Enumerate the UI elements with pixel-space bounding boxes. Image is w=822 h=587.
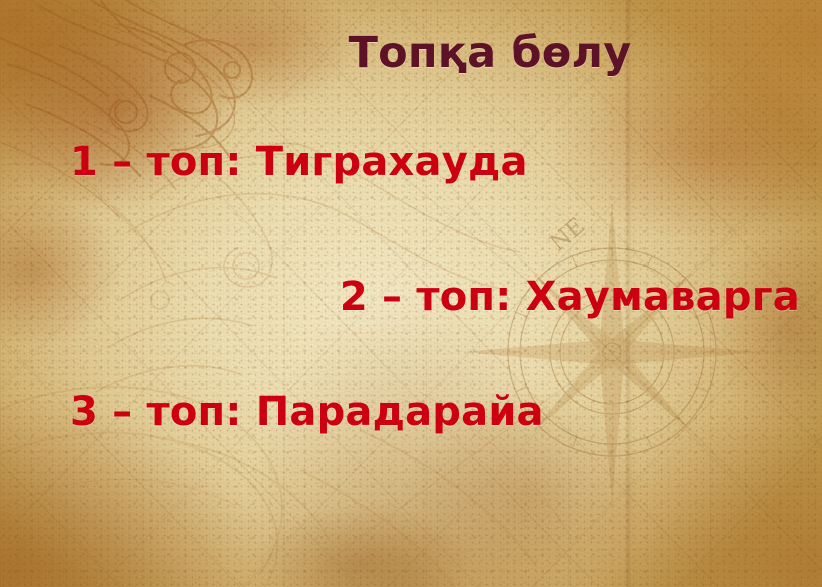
group-line-3: 3 – топ: Парадарайа xyxy=(70,389,544,435)
compass-label-ne: NE xyxy=(545,213,590,257)
slide-canvas: NE Топқа бөлу 1 – топ: Тиграхауда 2 – то… xyxy=(0,0,822,587)
group-line-2: 2 – топ: Хаумаварга xyxy=(340,274,800,320)
slide-title: Топқа бөлу xyxy=(0,28,802,78)
group-line-1: 1 – топ: Тиграхауда xyxy=(70,139,528,185)
